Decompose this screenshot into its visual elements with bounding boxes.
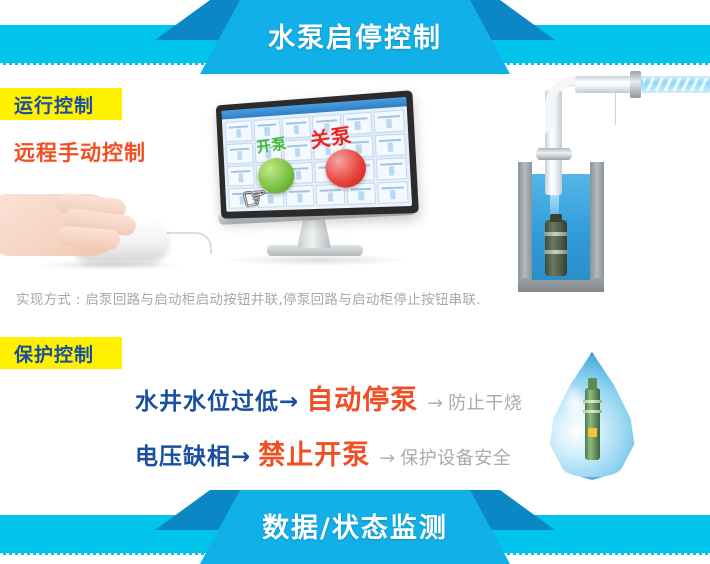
monitor-screen[interactable]: 开泵 关泵 ☞ bbox=[221, 97, 412, 212]
scada-widget bbox=[226, 143, 253, 165]
arrow-point-icon bbox=[100, 88, 122, 120]
pump-band bbox=[544, 250, 568, 254]
arrow-right-icon: → bbox=[279, 389, 298, 415]
bottom-banner-ribbon: 数据/状态监测 bbox=[200, 490, 510, 564]
wellhead-flange bbox=[536, 148, 572, 160]
arrow-point-icon bbox=[100, 337, 122, 369]
bottom-banner: 数据/状态监测 bbox=[0, 490, 710, 564]
droplet-rim bbox=[546, 352, 638, 480]
desktop-monitor-illustration: 开泵 关泵 ☞ bbox=[205, 98, 420, 273]
submersible-pump bbox=[545, 220, 567, 276]
well-casing-right bbox=[590, 162, 604, 290]
protection-rule-row: 水井水位过低 → 自动停泵 → 防止干烧 bbox=[135, 378, 522, 417]
transparent-water-pipe bbox=[641, 76, 710, 93]
arrow-right-icon: → bbox=[231, 444, 250, 470]
pipe-flange bbox=[630, 71, 641, 98]
hand-cursor-icon: ☞ bbox=[240, 183, 269, 212]
implementation-note: 实现方式 : 启泵回路与启动柜启动按钮并联,停泵回路与启动柜停止按钮串联. bbox=[16, 288, 481, 308]
scada-widget bbox=[376, 157, 407, 180]
water-droplet-illustration bbox=[536, 348, 648, 488]
protection-condition: 电压缺相 bbox=[135, 437, 231, 471]
scada-widget bbox=[375, 133, 406, 156]
protection-rule-row: 电压缺相 → 禁止开泵 → 保护设备安全 bbox=[135, 433, 511, 472]
protection-action: 禁止开泵 bbox=[258, 433, 370, 472]
water-well-pump-illustration bbox=[500, 62, 710, 277]
protection-action: 自动停泵 bbox=[306, 378, 418, 417]
remote-manual-control-label: 远程手动控制 bbox=[14, 137, 146, 167]
scada-widget bbox=[374, 110, 405, 134]
bottom-banner-title: 数据/状态监测 bbox=[262, 506, 448, 549]
well-casing-left bbox=[518, 162, 532, 290]
scada-widget bbox=[282, 116, 311, 139]
scada-widget bbox=[225, 120, 252, 142]
protection-result: 保护设备安全 bbox=[400, 444, 511, 470]
arrow-right-icon: → bbox=[379, 447, 395, 469]
mouse-shadow bbox=[34, 260, 184, 270]
protection-control-tag-label: 保护控制 bbox=[0, 340, 100, 367]
top-banner-title: 水泵启停控制 bbox=[268, 16, 442, 59]
run-control-tag-label: 运行控制 bbox=[0, 91, 100, 118]
scada-widget bbox=[377, 181, 408, 204]
protection-control-tag: 保护控制 bbox=[0, 337, 122, 369]
start-pump-label: 开泵 bbox=[255, 132, 288, 157]
protection-result: 防止干烧 bbox=[448, 389, 522, 415]
pump-band bbox=[544, 232, 568, 236]
protection-condition: 水井水位过低 bbox=[135, 382, 279, 416]
run-control-tag: 运行控制 bbox=[0, 88, 122, 120]
well-casing-bottom bbox=[518, 278, 604, 292]
top-banner-ribbon: 水泵启停控制 bbox=[200, 0, 510, 74]
horizontal-pipe bbox=[575, 76, 635, 93]
stop-pump-label: 关泵 bbox=[308, 119, 354, 154]
hand-on-mouse-illustration bbox=[0, 168, 184, 276]
infographic-page: 水泵启停控制 运行控制 远程手动控制 bbox=[0, 0, 710, 564]
monitor-bezel: 开泵 关泵 ☞ bbox=[216, 90, 419, 219]
scada-widget bbox=[286, 185, 315, 207]
arrow-right-icon: → bbox=[427, 392, 443, 414]
pump-cap bbox=[550, 214, 562, 222]
